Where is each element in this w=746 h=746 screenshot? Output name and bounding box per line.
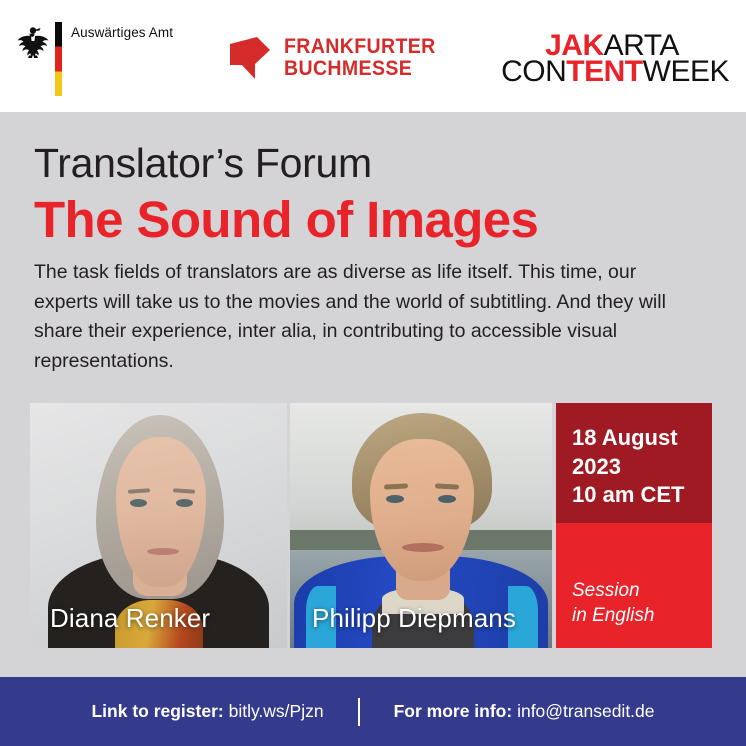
bundesadler-eagle-icon [17, 24, 49, 58]
info-label: For more info: [394, 701, 513, 721]
header-logo-band: Auswärtiges Amt FRANKFURTER BUCHMESSE JA… [0, 0, 746, 112]
jcw-con: CON [501, 55, 566, 88]
jcw-tent: TENT [566, 55, 642, 88]
logo-row: Auswärtiges Amt FRANKFURTER BUCHMESSE JA… [0, 0, 746, 112]
logo-jakarta-content-week: JAKARTA CONTENTWEEK [501, 33, 729, 85]
footer-divider [358, 698, 360, 726]
info-value[interactable]: info@transedit.de [517, 701, 654, 721]
event-date-line3: 10 am CET [572, 481, 685, 510]
fbm-line2: BUCHMESSE [284, 58, 436, 80]
session-language-panel: Session in English [556, 523, 712, 648]
session-line1: Session [572, 578, 654, 603]
speaker-name-label: Philipp Diepmans [312, 603, 516, 634]
logo-auswaertiges-amt: Auswärtiges Amt [17, 16, 173, 96]
photo-eye-left [130, 499, 147, 507]
speaker-name-label: Diana Renker [50, 603, 210, 634]
logo-auswaertiges-amt-label: Auswärtiges Amt [71, 25, 173, 40]
photo-eye-right [438, 495, 456, 503]
register-link-item[interactable]: Link to register: bitly.ws/Pjzn [91, 701, 323, 722]
speaker-photo-philipp-diepmans: Philipp Diepmans [290, 403, 552, 648]
session-language-text: Session in English [572, 578, 654, 628]
fbm-line1: FRANKFURTER [284, 36, 436, 58]
session-line2: in English [572, 603, 654, 628]
event-date-panel: 18 August 2023 10 am CET [556, 403, 712, 523]
photo-mouth [402, 543, 444, 552]
photo-mouth [147, 548, 179, 555]
photo-eye-right [176, 499, 193, 507]
event-date-text: 18 August 2023 10 am CET [572, 424, 685, 510]
photo-eye-left [386, 495, 404, 503]
poster-canvas: Auswärtiges Amt FRANKFURTER BUCHMESSE JA… [0, 0, 746, 746]
event-date-line2: 2023 [572, 453, 685, 482]
footer-bar: Link to register: bitly.ws/Pjzn For more… [0, 677, 746, 746]
contact-info-item[interactable]: For more info: info@transedit.de [394, 701, 655, 722]
buchmesse-mark-icon [227, 34, 273, 82]
photo-face [116, 437, 206, 587]
register-label: Link to register: [91, 701, 223, 721]
event-date-line1: 18 August [572, 424, 685, 453]
logo-frankfurter-buchmesse-label: FRANKFURTER BUCHMESSE [284, 36, 447, 80]
event-series-title: Translator’s Forum [34, 140, 372, 187]
register-value[interactable]: bitly.ws/Pjzn [229, 701, 324, 721]
event-description: The task fields of translators are as di… [34, 258, 689, 377]
german-flag-bar [55, 22, 62, 96]
logo-frankfurter-buchmesse: FRANKFURTER BUCHMESSE [227, 34, 447, 82]
jcw-week: WEEK [643, 55, 729, 88]
event-main-title: The Sound of Images [34, 190, 538, 249]
speaker-photo-diana-renker: Diana Renker [30, 403, 287, 648]
jcw-line2: CONTENTWEEK [501, 59, 729, 85]
